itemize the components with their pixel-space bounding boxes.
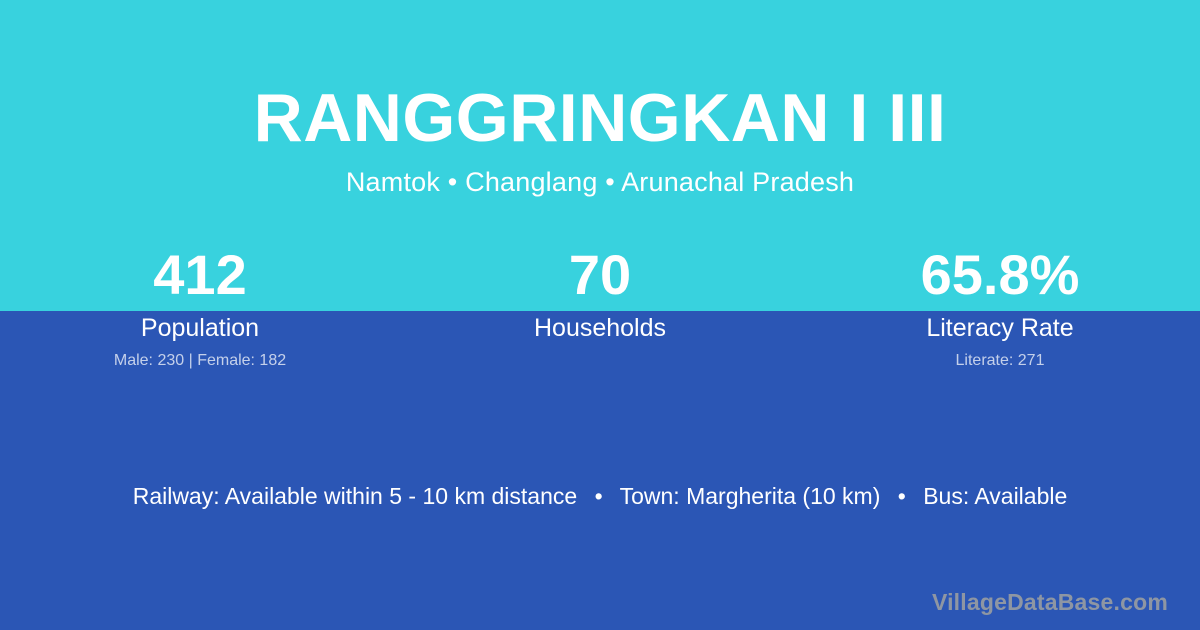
population-breakdown: Male: 230 | Female: 182 (0, 351, 400, 371)
households-breakdown (400, 351, 800, 371)
village-info-card: RANGGRINGKAN I III Namtok • Changlang • … (0, 0, 1200, 630)
amenities-info-line: Railway: Available within 5 - 10 km dist… (0, 483, 1200, 510)
stats-row: 412 Population Male: 230 | Female: 182 7… (0, 244, 1200, 371)
population-value: 412 (0, 244, 400, 306)
bullet-separator-icon: • (584, 483, 614, 510)
stat-population: 412 Population Male: 230 | Female: 182 (0, 244, 400, 371)
stat-literacy-rate: 65.8% Literacy Rate Literate: 271 (800, 244, 1200, 371)
population-label: Population (0, 313, 400, 343)
page-title: RANGGRINGKAN I III (0, 82, 1200, 155)
location-breadcrumb: Namtok • Changlang • Arunachal Pradesh (0, 167, 1200, 198)
stat-households: 70 Households (400, 244, 800, 371)
households-value: 70 (400, 244, 800, 306)
literacy-rate-label: Literacy Rate (800, 313, 1200, 343)
header: RANGGRINGKAN I III Namtok • Changlang • … (0, 0, 1200, 198)
literate-count: Literate: 271 (800, 351, 1200, 371)
bullet-separator-icon: • (887, 483, 917, 510)
site-watermark: VillageDataBase.com (932, 589, 1168, 616)
nearest-town-info: Town: Margherita (10 km) (620, 483, 881, 509)
households-label: Households (400, 313, 800, 343)
literacy-rate-value: 65.8% (800, 244, 1200, 306)
bus-info: Bus: Available (923, 483, 1067, 509)
railway-info: Railway: Available within 5 - 10 km dist… (133, 483, 577, 509)
